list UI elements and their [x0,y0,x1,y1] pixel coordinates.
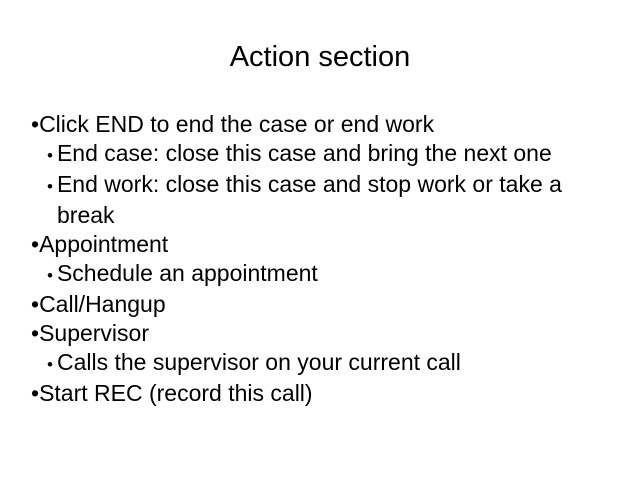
list-item: •Click END to end the case or end work [31,110,616,139]
bullet-marker-icon: • [31,266,57,285]
bullet-list: •Click END to end the case or end work•E… [31,110,616,408]
page-title: Action section [0,39,640,75]
list-item-label: Supervisor [39,320,149,346]
list-item-label: Calls the supervisor on your current cal… [57,349,461,375]
bullet-marker-icon: • [31,177,57,196]
list-item: •Call/Hangup [31,290,616,319]
bullet-marker-icon: • [31,291,39,317]
bullet-marker-icon: • [31,380,39,406]
bullet-marker-icon: • [31,355,57,374]
list-item: •Start REC (record this call) [31,379,616,408]
list-item-label: Click END to end the case or end work [39,111,434,137]
list-item: •Appointment [31,230,616,259]
list-item-label: End work: close this case and stop work … [57,171,562,228]
slide-canvas: Action section •Click END to end the cas… [0,0,640,480]
bullet-marker-icon: • [31,146,57,165]
list-item: •Schedule an appointment [31,259,616,290]
list-item-label: Call/Hangup [39,291,166,317]
list-item-label: Appointment [39,231,168,257]
list-item: •Supervisor [31,319,616,348]
list-item: •End case: close this case and bring the… [31,139,616,170]
list-item-label: Schedule an appointment [57,260,318,286]
list-item: •End work: close this case and stop work… [31,170,616,230]
list-item-label: Start REC (record this call) [39,380,313,406]
bullet-marker-icon: • [31,231,39,257]
list-item: •Calls the supervisor on your current ca… [31,348,616,379]
bullet-marker-icon: • [31,111,39,137]
bullet-marker-icon: • [31,320,39,346]
list-item-label: End case: close this case and bring the … [57,140,552,166]
